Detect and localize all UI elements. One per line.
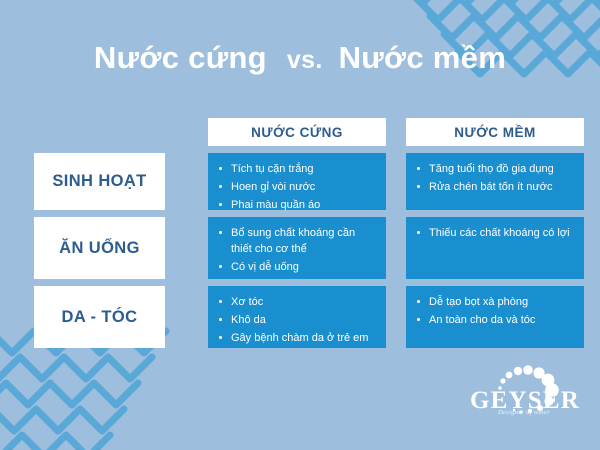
column-header-soft-water: NƯỚC MỀM (406, 118, 584, 146)
bullet-list: Tăng tuổi thọ đồ gia dụng Rửa chén bát t… (415, 161, 575, 197)
cell-hard-da-toc: Xơ tóc Khô da Gây bệnh chàm da ở trẻ em (208, 286, 386, 348)
cell-soft-da-toc: Dễ tạo bọt xà phòng An toàn cho da và tó… (406, 286, 584, 348)
page-title: Nước cứngvs.Nước mềm (0, 40, 600, 76)
column-gap (386, 153, 406, 210)
cell-hard-an-uong: Bổ sung chất khoáng cần thiết cho cơ thể… (208, 217, 386, 279)
row-label-da-toc: DA - TÓC (34, 286, 165, 348)
column-gap (386, 118, 406, 146)
list-item: Tích tụ cặn trắng (217, 161, 377, 177)
table-row: SINH HOẠT Tích tụ cặn trắng Hoen gỉ vòi … (34, 153, 568, 210)
title-soft-water: Nước mềm (339, 40, 507, 75)
header-corner-spacer (34, 118, 165, 146)
logo-tagline: Designer of water (498, 409, 550, 416)
list-item: Khô da (217, 312, 377, 328)
row-label-an-uong: ĂN UỐNG (34, 217, 165, 279)
bullet-list: Bổ sung chất khoáng cần thiết cho cơ thể… (217, 225, 377, 277)
list-item: Rửa chén bát tốn ít nước (415, 179, 575, 195)
infographic-canvas: Nước cứngvs.Nước mềm NƯỚC CỨNG NƯỚC MỀM … (0, 0, 600, 450)
table-row: DA - TÓC Xơ tóc Khô da Gây bệnh chàm da … (34, 286, 568, 348)
bullet-list: Xơ tóc Khô da Gây bệnh chàm da ở trẻ em (217, 294, 377, 347)
list-item: Dễ tạo bọt xà phòng (415, 294, 575, 310)
title-hard-water: Nước cứng (94, 40, 267, 75)
list-item: Có vị dễ uống (217, 259, 377, 275)
comparison-table: NƯỚC CỨNG NƯỚC MỀM SINH HOẠT Tích tụ cặn… (34, 118, 568, 355)
list-item: An toàn cho da và tóc (415, 312, 575, 328)
bullet-list: Dễ tạo bọt xà phòng An toàn cho da và tó… (415, 294, 575, 330)
cell-soft-an-uong: Thiếu các chất khoáng có lợi (406, 217, 584, 279)
list-item: Thiếu các chất khoáng có lợi (415, 225, 575, 241)
list-item: Bổ sung chất khoáng cần thiết cho cơ thể (217, 225, 377, 258)
list-item: Tăng tuổi thọ đồ gia dụng (415, 161, 575, 177)
bullet-list: Thiếu các chất khoáng có lợi (415, 225, 575, 243)
column-header-hard-water: NƯỚC CỨNG (208, 118, 386, 146)
list-item: Xơ tóc (217, 294, 377, 310)
cell-soft-sinh-hoat: Tăng tuổi thọ đồ gia dụng Rửa chén bát t… (406, 153, 584, 210)
title-vs-label: vs. (287, 46, 323, 74)
brand-logo: GEYSER Designer of water (470, 362, 585, 420)
table-header-row: NƯỚC CỨNG NƯỚC MỀM (34, 118, 568, 146)
cell-hard-sinh-hoat: Tích tụ cặn trắng Hoen gỉ vòi nước Phai … (208, 153, 386, 210)
row-label-sinh-hoat: SINH HOẠT (34, 153, 165, 210)
list-item: Hoen gỉ vòi nước (217, 179, 377, 195)
list-item: Phai màu quần áo (217, 197, 377, 213)
list-item: Gây bệnh chàm da ở trẻ em (217, 330, 377, 346)
column-gap (386, 217, 406, 279)
bullet-list: Tích tụ cặn trắng Hoen gỉ vòi nước Phai … (217, 161, 377, 214)
table-row: ĂN UỐNG Bổ sung chất khoáng cần thiết ch… (34, 217, 568, 279)
column-gap (386, 286, 406, 348)
